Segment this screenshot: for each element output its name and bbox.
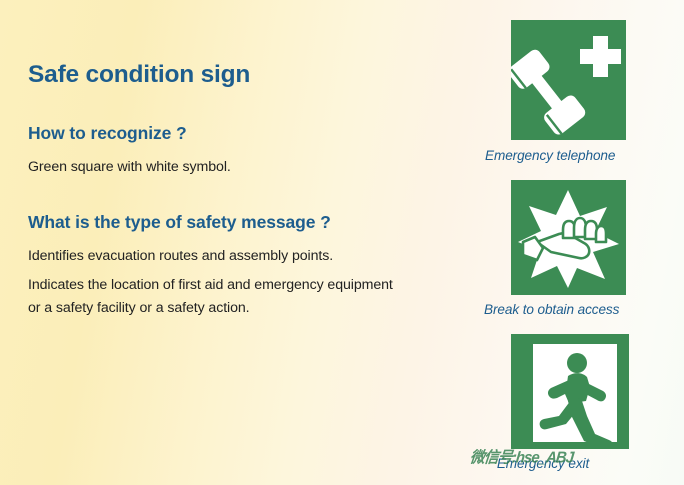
break-glass-hand-icon [511, 180, 626, 295]
sign-card-emergency-telephone: Emergency telephone [511, 20, 626, 163]
sign-caption: Emergency telephone [485, 148, 600, 163]
content-column: Safe condition sign How to recognize ? G… [28, 62, 478, 323]
section-body-line: Green square with white symbol. [28, 157, 478, 178]
section-heading-how-to-recognize: How to recognize ? [28, 123, 478, 143]
spacer [28, 182, 478, 212]
sign-caption: Emergency exit [484, 456, 602, 471]
section-body-line: or a safety facility or a safety action. [28, 298, 478, 319]
sign-caption: Break to obtain access [484, 302, 599, 317]
section-heading-safety-message-type: What is the type of safety message ? [28, 212, 478, 232]
section-body-line: Indicates the location of first aid and … [28, 275, 478, 296]
sign-card-break-to-obtain-access: Break to obtain access [511, 180, 626, 317]
sign-plate [511, 20, 626, 140]
section-body-line: Identifies evacuation routes and assembl… [28, 246, 478, 267]
sign-gallery: Emergency telephone [478, 0, 684, 485]
running-man-exit-icon [511, 334, 629, 449]
sign-card-emergency-exit: Emergency exit [511, 334, 629, 471]
emergency-telephone-icon [511, 20, 626, 140]
page-title: Safe condition sign [28, 62, 478, 89]
slide-canvas: Safe condition sign How to recognize ? G… [0, 0, 684, 485]
sign-plate [511, 334, 629, 449]
sign-plate [511, 180, 626, 295]
